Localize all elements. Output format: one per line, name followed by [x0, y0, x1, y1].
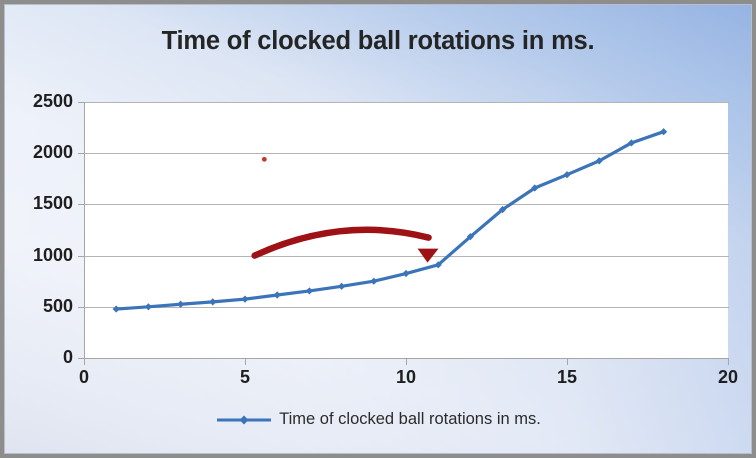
legend-label: Time of clocked ball rotations in ms. [279, 410, 541, 429]
annotation-arrow-head [418, 249, 439, 263]
annotation-layer [5, 5, 752, 454]
legend[interactable]: Time of clocked ball rotations in ms. [5, 410, 751, 429]
annotation-arrow-curve [255, 230, 429, 256]
annotation-dot [262, 157, 267, 162]
screenshot-frame: Time of clocked ball rotations in ms. 25… [0, 0, 756, 458]
chart-canvas: Time of clocked ball rotations in ms. 25… [4, 4, 752, 454]
legend-line-marker-icon [215, 412, 273, 428]
